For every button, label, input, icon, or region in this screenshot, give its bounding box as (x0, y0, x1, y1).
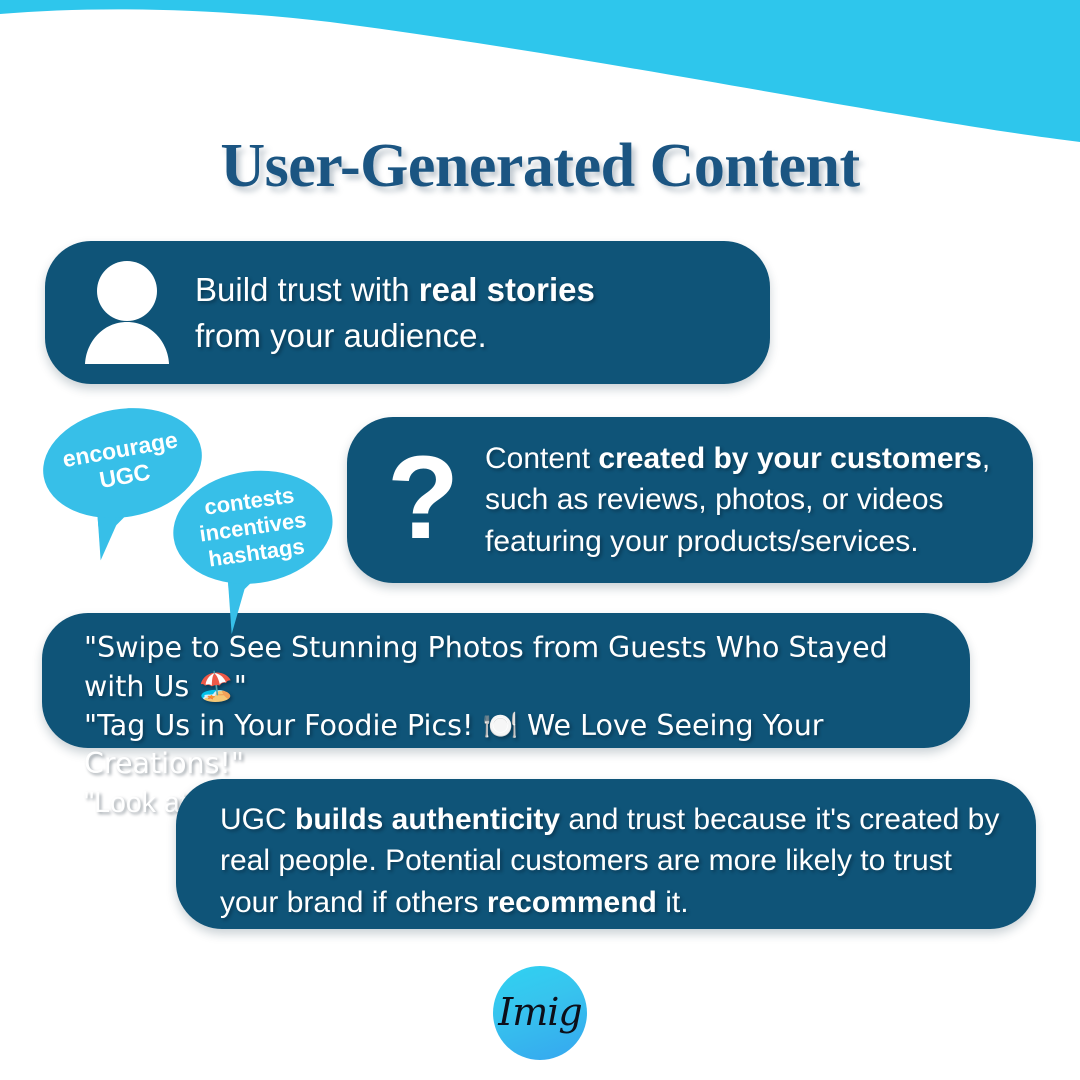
person-icon (81, 260, 173, 366)
quote-line-2: "Tag Us in Your Foodie Pics! 🍽️ We Love … (84, 707, 944, 785)
brand-logo[interactable]: Imig (493, 966, 587, 1060)
speech-bubble-contests-body: contests incentives hashtags (166, 461, 340, 594)
summary-bold2: recommend (487, 886, 657, 919)
card-definition: ? Content created by your customers, suc… (347, 417, 1033, 583)
summary-part3: it. (657, 886, 689, 919)
definition-part1: Content (485, 442, 598, 475)
trust-line1-bold: real stories (419, 271, 595, 308)
speech-bubble-contests-tail (228, 576, 262, 634)
summary-part1: UGC (220, 803, 295, 836)
speech-bubble-contests-text: contests incentives hashtags (194, 481, 311, 573)
card-build-trust: Build trust with real stories from your … (45, 241, 770, 384)
card-example-quotes: "Swipe to See Stunning Photos from Guest… (42, 613, 970, 748)
card-definition-inner: ? Content created by your customers, suc… (347, 417, 1033, 583)
card-build-trust-inner: Build trust with real stories from your … (45, 241, 770, 384)
speech-bubble-contests: contests incentives hashtags (166, 451, 420, 671)
brand-logo-text: Imig (498, 990, 582, 1034)
trust-line1-plain: Build trust with (195, 271, 419, 308)
definition-bold: created by your customers (598, 442, 981, 475)
page-title: User-Generated Content (0, 131, 1080, 202)
trust-line2: from your audience. (195, 317, 487, 354)
card-summary-text: UGC builds authenticity and trust becaus… (220, 799, 1000, 923)
card-summary: UGC builds authenticity and trust becaus… (176, 779, 1036, 929)
card-build-trust-text: Build trust with real stories from your … (195, 267, 595, 358)
infographic-canvas: User-Generated Content Build trust with … (0, 0, 1080, 1080)
summary-bold1: builds authenticity (295, 803, 560, 836)
card-summary-inner: UGC builds authenticity and trust becaus… (176, 779, 1036, 923)
card-definition-text: Content created by your customers, such … (485, 438, 1011, 562)
